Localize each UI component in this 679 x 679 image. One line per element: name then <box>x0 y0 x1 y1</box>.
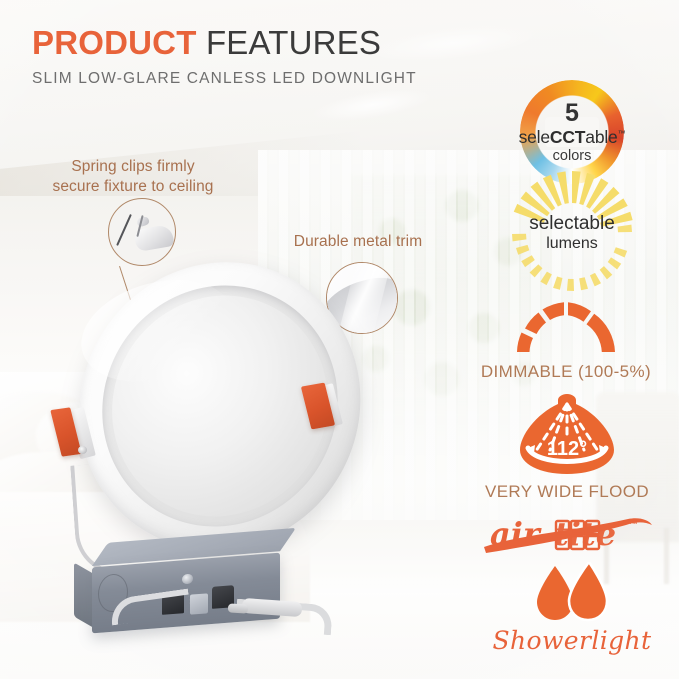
callout-spring-line1: Spring clips firmly <box>28 157 238 177</box>
product-features-infographic: PRODUCT FEATURES SLIM LOW-GLARE CANLESS … <box>0 0 679 679</box>
feature-airtite: air tite ™ <box>478 505 658 561</box>
beam-angle-value: 112° <box>512 438 622 461</box>
cct-wordmark: seleCCTable™ <box>519 129 626 147</box>
detail-clip-arm <box>116 214 132 246</box>
feature-dimmable: DIMMABLE (100-5%) <box>466 296 666 382</box>
airtite-logo-icon: air tite ™ <box>478 505 658 561</box>
product-downlight-fixture <box>54 256 414 666</box>
cct-colors-label: colors <box>553 149 592 164</box>
lumens-line1: selectable <box>529 213 615 234</box>
airtite-word-air: air <box>490 515 542 553</box>
feature-selectable-lumens: selectable lumens <box>492 186 652 280</box>
page-subtitle: SLIM LOW-GLARE CANLESS LED DOWNLIGHT <box>32 70 417 88</box>
beam-angle-cone-icon <box>512 392 622 478</box>
dimmer-gauge-icon <box>511 296 621 354</box>
cct-word-post: able <box>585 127 617 147</box>
quick-connect-plug-tip <box>228 603 249 613</box>
feature-showerlight: Showerlight <box>492 562 652 655</box>
water-droplets-icon <box>517 562 627 624</box>
callout-trim-line1: Durable metal trim <box>268 232 448 252</box>
cct-trademark: ™ <box>618 129 626 138</box>
junction-box-plate <box>190 593 208 614</box>
header: PRODUCT FEATURES SLIM LOW-GLARE CANLESS … <box>32 26 417 88</box>
feature-very-wide-flood: 112° VERY WIDE FLOOD <box>462 392 672 502</box>
callout-label-metal-trim: Durable metal trim <box>268 232 448 252</box>
spring-clip-screw <box>78 446 87 454</box>
showerlight-caption: Showerlight <box>492 626 652 655</box>
dimmable-caption: DIMMABLE (100-5%) <box>466 362 666 382</box>
title-light: FEATURES <box>206 24 381 61</box>
page-title: PRODUCT FEATURES <box>32 26 417 59</box>
callout-label-spring-clips: Spring clips firmly secure fixture to ce… <box>28 157 238 198</box>
callout-spring-line2: secure fixture to ceiling <box>28 177 238 197</box>
title-strong: PRODUCT <box>32 24 197 61</box>
cct-number: 5 <box>565 101 579 126</box>
lumens-line2: lumens <box>546 235 598 253</box>
lumens-label-group: selectable lumens <box>492 186 652 280</box>
airtite-trademark: ™ <box>628 519 638 530</box>
cct-word-mid: CCT <box>550 127 585 147</box>
airtite-word-tite: tite <box>554 515 616 553</box>
flood-caption: VERY WIDE FLOOD <box>462 482 672 502</box>
cct-word-pre: sele <box>519 127 550 147</box>
